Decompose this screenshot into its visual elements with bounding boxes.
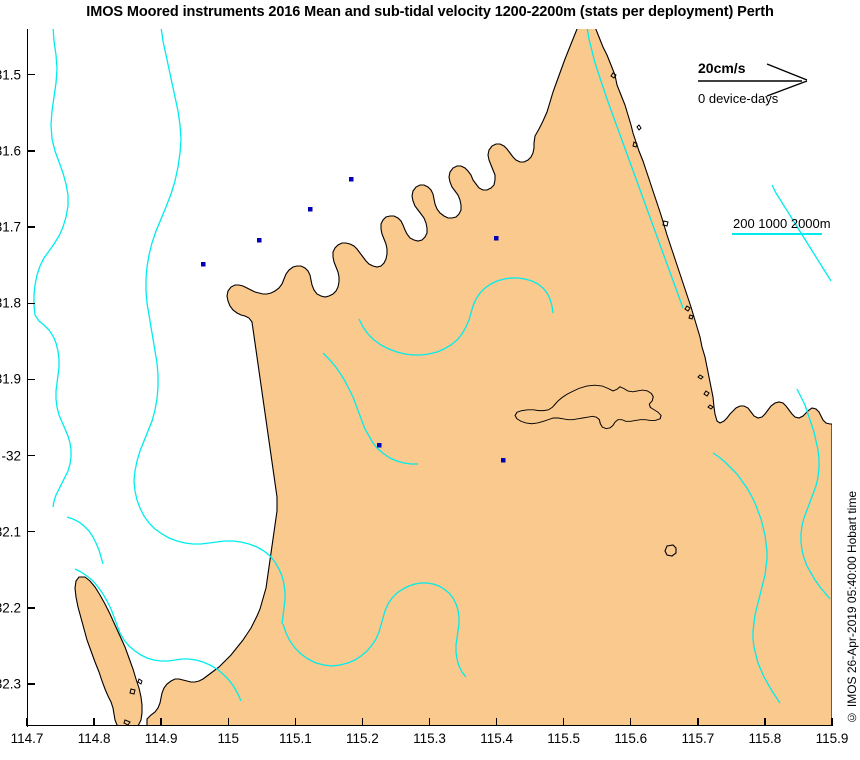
y-axis-label: -32.3 [0, 677, 21, 692]
x-axis-label: 115.3 [413, 731, 446, 746]
mooring-marker[interactable] [349, 177, 354, 182]
y-axis-tick [27, 531, 35, 532]
y-axis-label: -31.8 [0, 296, 21, 311]
y-axis-label: -31.7 [0, 220, 21, 235]
x-axis-label: 115.8 [749, 731, 782, 746]
y-axis-label: -32.2 [0, 600, 21, 615]
y-axis-label: -32.1 [0, 524, 21, 539]
map-figure: IMOS Moored instruments 2016 Mean and su… [0, 0, 860, 760]
x-axis-label: 115.4 [480, 731, 513, 746]
page-title: IMOS Moored instruments 2016 Mean and su… [0, 4, 860, 20]
device-days-label: 0 device-days [698, 91, 778, 106]
x-axis-tick [496, 718, 497, 726]
x-axis-label: 114.9 [145, 731, 178, 746]
mainland-landmass [147, 29, 832, 726]
mooring-marker[interactable] [257, 238, 262, 243]
garden-island [75, 577, 142, 726]
mooring-marker[interactable] [494, 236, 499, 241]
mooring-marker[interactable] [201, 262, 206, 267]
small-islet [665, 545, 676, 556]
y-axis-label: -31.9 [0, 372, 21, 387]
y-axis-tick [27, 607, 35, 608]
y-axis-tick [27, 74, 35, 75]
y-axis-tick [27, 226, 35, 227]
x-axis-tick [764, 718, 765, 726]
x-axis-label: 115.1 [279, 731, 312, 746]
y-axis-tick [27, 455, 35, 456]
y-axis-label: -31.5 [0, 67, 21, 82]
x-axis-tick [831, 718, 832, 726]
x-axis-tick [563, 718, 564, 726]
map-plot-area[interactable]: 20cm/s 0 device-days 200 1000 2000m [27, 29, 832, 726]
velocity-scale-label: 20cm/s [698, 60, 745, 76]
depth-contour-legend-label: 200 1000 2000m [733, 216, 831, 231]
x-axis-label: 114.7 [11, 731, 44, 746]
x-axis-tick [429, 718, 430, 726]
mooring-marker[interactable] [308, 207, 313, 212]
x-axis-tick [228, 718, 229, 726]
mooring-marker[interactable] [377, 443, 382, 448]
y-axis-tick [27, 303, 35, 304]
x-axis-tick [362, 718, 363, 726]
x-axis-label: 115.7 [681, 731, 714, 746]
copyright-notice: © IMOS 26-Apr-2019 05:40:00 Hobart time [845, 491, 859, 724]
x-axis-tick [697, 718, 698, 726]
x-axis-tick [295, 718, 296, 726]
x-axis-label: 114.8 [78, 731, 111, 746]
x-axis-tick [160, 718, 161, 726]
y-axis-label: -32 [0, 448, 21, 463]
map-canvas [27, 29, 832, 726]
x-axis-label: 115 [217, 731, 239, 746]
y-axis-label: -31.6 [0, 143, 21, 158]
x-axis-tick [630, 718, 631, 726]
x-axis-label: 115.9 [816, 731, 849, 746]
x-axis-tick [26, 718, 27, 726]
x-axis-tick [93, 718, 94, 726]
x-axis-label: 115.2 [346, 731, 379, 746]
x-axis-label: 115.6 [614, 731, 647, 746]
y-axis-tick [27, 150, 35, 151]
y-axis-tick [27, 379, 35, 380]
mooring-marker[interactable] [501, 458, 506, 463]
y-axis-tick [27, 683, 35, 684]
x-axis-label: 115.5 [547, 731, 580, 746]
